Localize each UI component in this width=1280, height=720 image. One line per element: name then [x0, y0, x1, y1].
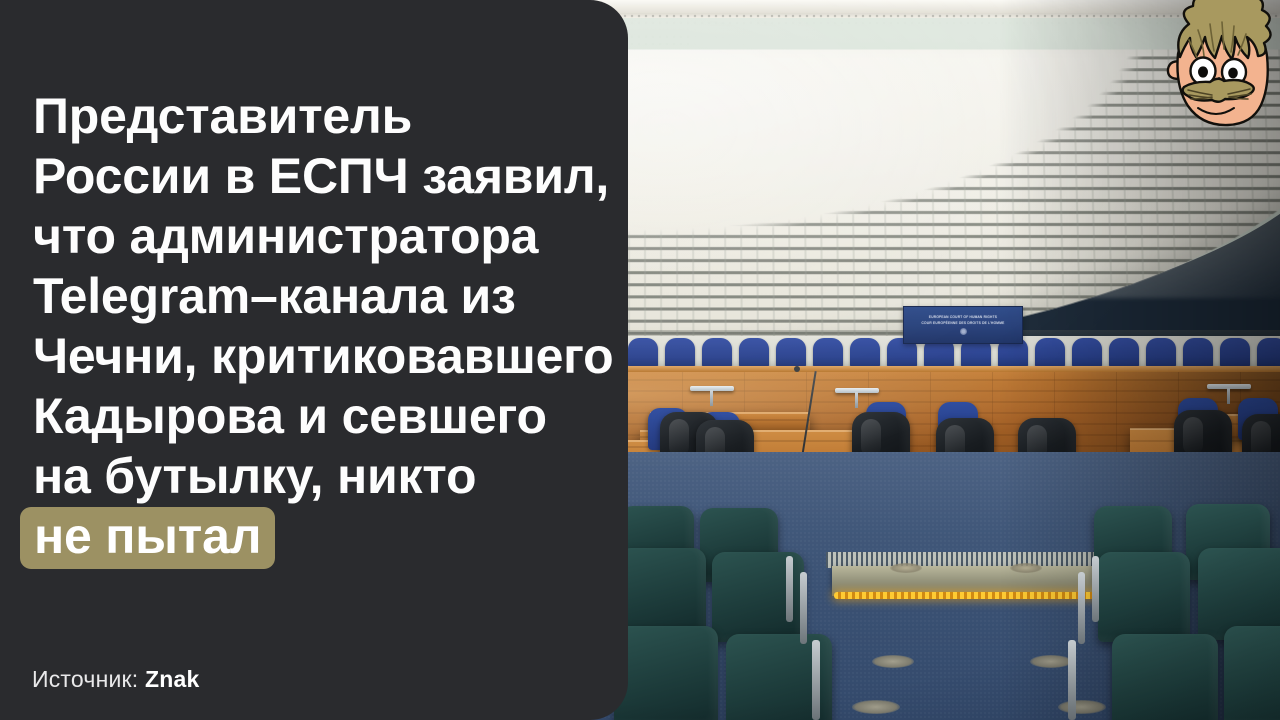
headline-line-3: что администратора: [33, 206, 633, 266]
news-card-image: EUROPEAN COURT OF HUMAN RIGHTS COUR EURO…: [0, 0, 1280, 720]
headline-line-7: на бутылку, никто: [33, 446, 633, 506]
source-attribution: Источник: Znak: [32, 666, 199, 693]
headline-text: Представитель России в ЕСПЧ заявил, что …: [33, 86, 633, 569]
source-name: Znak: [145, 666, 199, 692]
headline-highlight: не пытал: [20, 507, 275, 569]
headline-line-5: Чечни, критиковавшего: [33, 326, 633, 386]
headline-line-2: России в ЕСПЧ заявил,: [33, 146, 633, 206]
cartoon-face-icon: [1158, 8, 1276, 128]
headline-line-1: Представитель: [33, 86, 633, 146]
source-label: Источник:: [32, 666, 138, 692]
headline-line-4: Telegram–канала из: [33, 266, 633, 326]
headline-card: Представитель России в ЕСПЧ заявил, что …: [0, 0, 628, 720]
headline-line-6: Кадырова и севшего: [33, 386, 633, 446]
